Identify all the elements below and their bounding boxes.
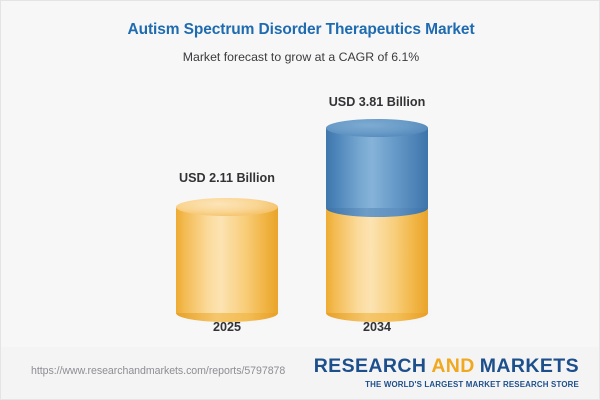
cylinder-top-cap-2034 (326, 119, 428, 137)
cylinder-body-2025 (176, 207, 278, 313)
cylinder-body-blue-2034 (326, 128, 428, 208)
bar-value-label-2034: USD 3.81 Billion (287, 95, 467, 109)
chart-canvas: Autism Spectrum Disorder Therapeutics Ma… (0, 0, 600, 400)
source-url[interactable]: https://www.researchandmarkets.com/repor… (31, 365, 285, 377)
cylinder-top-cap-2025 (176, 198, 278, 216)
category-label-2034: 2034 (287, 320, 467, 334)
chart-footer: https://www.researchandmarkets.com/repor… (1, 347, 600, 399)
logo-word-research: RESEARCH (314, 355, 427, 377)
logo-tagline: THE WORLD'S LARGEST MARKET RESEARCH STOR… (314, 381, 579, 389)
chart-plot-area: USD 2.11 Billion 2025 USD 3.81 Billion (1, 1, 600, 346)
logo-word-and: AND (426, 355, 479, 377)
logo-word-markets: MARKETS (480, 355, 579, 377)
bar-value-label-2025: USD 2.11 Billion (137, 171, 317, 185)
logo-wordmark: RESEARCHANDMARKETS (314, 357, 579, 377)
cylinder-body-gold-2034 (326, 208, 428, 313)
research-and-markets-logo[interactable]: RESEARCHANDMARKETS THE WORLD'S LARGEST M… (314, 357, 579, 388)
